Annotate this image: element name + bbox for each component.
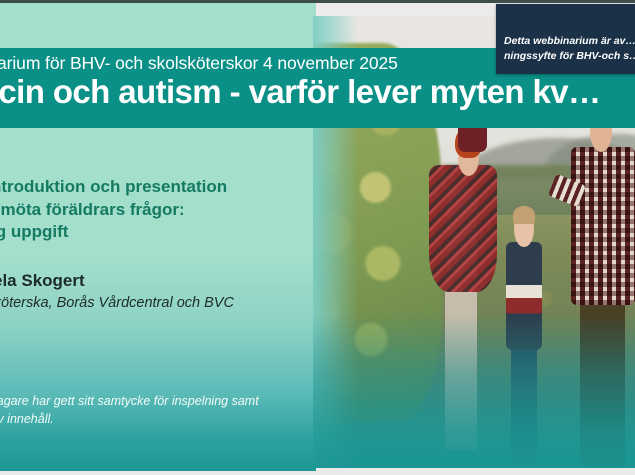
recording-notice-line-1: Detta webbinarium är av… [504,34,635,49]
photo-bottom-fade-overlay [313,314,635,468]
agenda-item-1: …ntroduktion och presentation [0,176,314,199]
webinar-title-text: …cin och autism - varför lever myten kv… [0,75,635,110]
photo-boy-hair [513,206,534,224]
agenda-item-3: …ig uppgift [0,221,314,244]
consent-disclaimer-line-1: …ltagare har gett sitt samtycke för insp… [0,392,318,410]
consent-disclaimer-line-2: …av innehåll. [0,410,318,428]
recording-notice-box: Detta webbinarium är av… ningssyfte för … [496,4,635,74]
recording-notice-line-2: ningssyfte för BHV-och s… [504,49,635,64]
speaker-role: …sköterska, Borås Vårdcentral och BVC [0,295,332,311]
top-edge-divider [0,0,635,3]
photo-father-plaid-shirt [571,147,635,305]
photo-woman-plaid-shawl [429,165,497,292]
consent-disclaimer: …ltagare har gett sitt samtycke för insp… [0,392,318,428]
webinar-slide: …narium för BHV- och skolsköterskor 4 no… [0,0,635,475]
agenda-list: …ntroduktion och presentation …emöta för… [0,176,314,244]
recording-notice-text: Detta webbinarium är av… ningssyfte för … [504,34,635,64]
bottom-edge-divider [0,471,635,475]
speaker-name: …ela Skogert [0,271,316,291]
agenda-item-2: …emöta föräldrars frågor: [0,199,314,222]
